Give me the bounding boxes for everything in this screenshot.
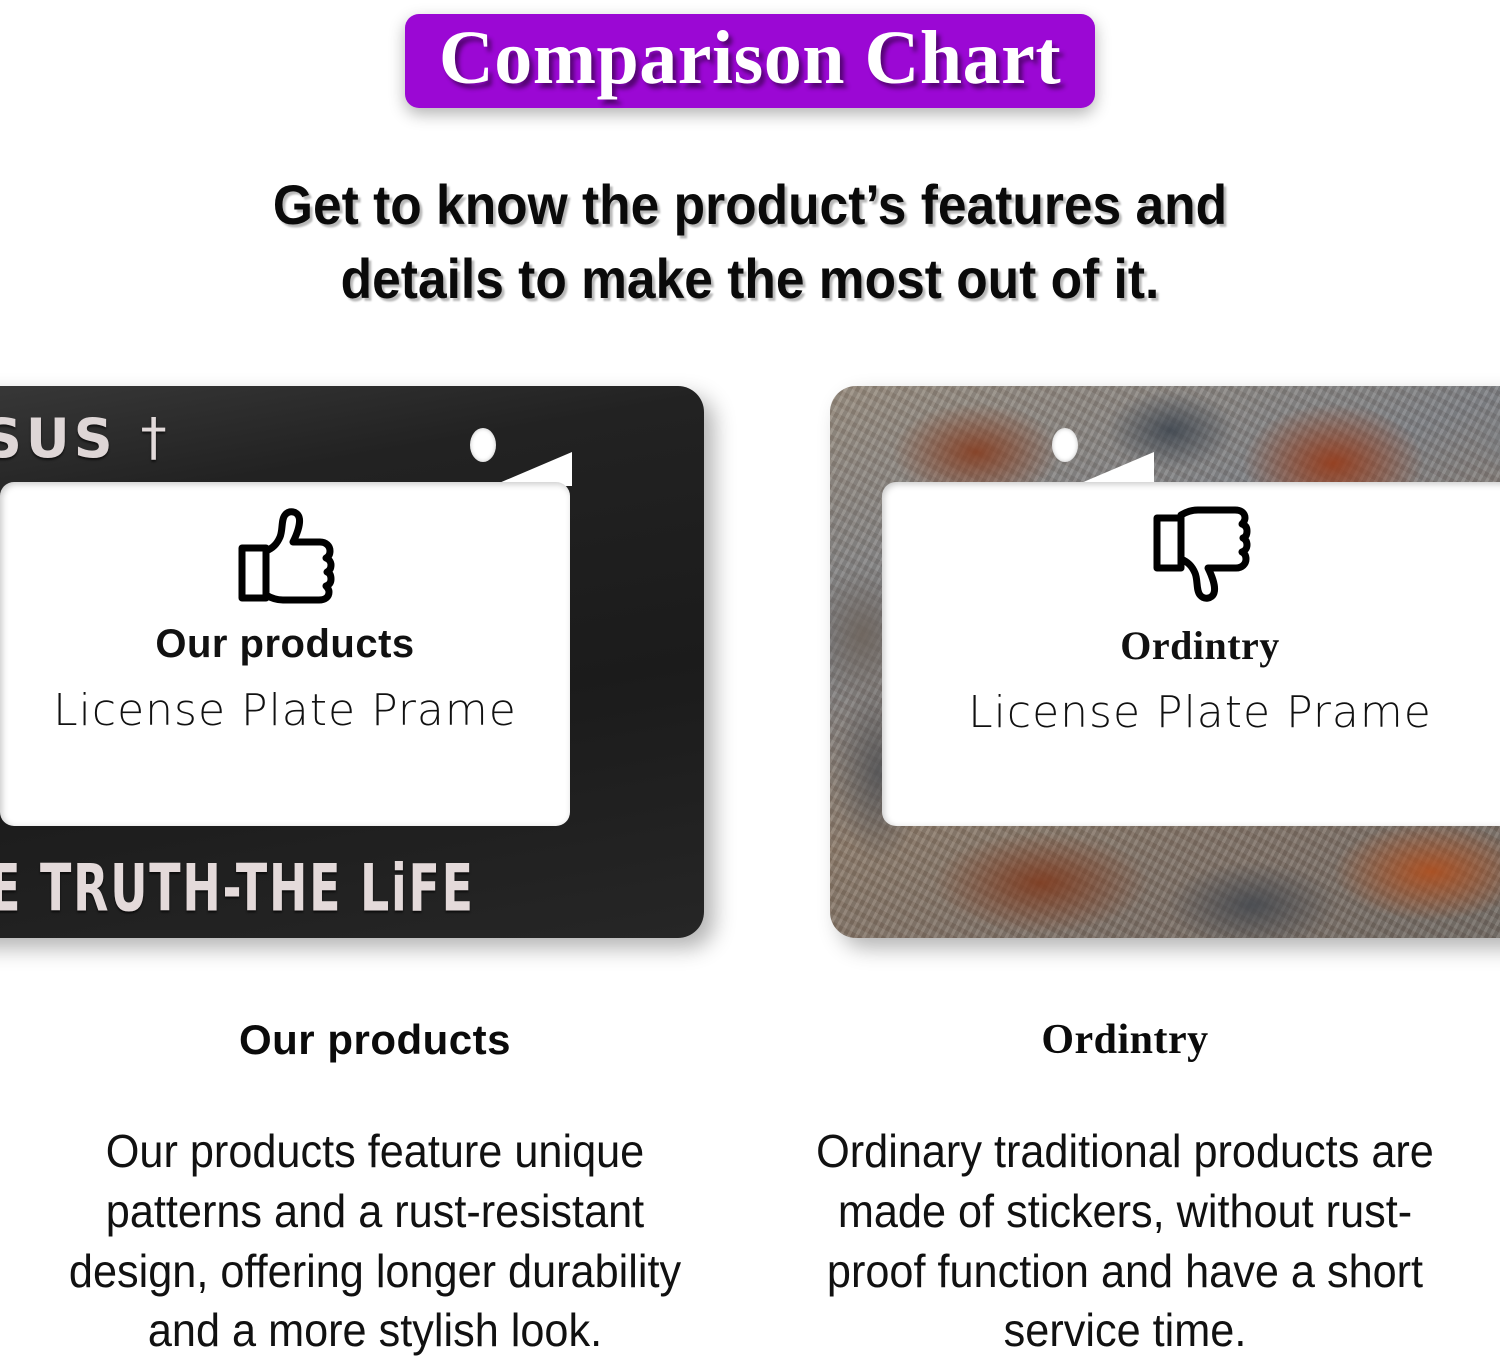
cross-icon: † [141, 408, 171, 468]
frame-top-engraving: JESUS † [0, 398, 704, 478]
title-banner-wrap: Comparison Chart [0, 14, 1500, 108]
ordinary-product-subheading: License Plate Prame [968, 687, 1432, 738]
frame-bottom-engraving: -THE TRUTH-THE LiFE [0, 850, 607, 926]
our-product-description-column: Our products Our products feature unique… [0, 1016, 750, 1361]
our-product-subheading: License Plate Prame [53, 685, 517, 736]
page-title: Comparison Chart [439, 20, 1061, 96]
ordinary-product-plate-window: Ordintry License Plate Prame [882, 482, 1500, 826]
ordinary-product-description-title: Ordintry [786, 1016, 1464, 1064]
thumbs-down-icon [1140, 504, 1260, 612]
descriptions-row: Our products Our products feature unique… [0, 1016, 1500, 1361]
our-product-plate-window: Our products License Plate Prame [0, 482, 570, 826]
ordinary-product-description-body: Ordinary traditional products are made o… [806, 1122, 1443, 1361]
our-product-heading: Our products [155, 622, 414, 667]
mounting-hole [470, 428, 496, 462]
ordinary-product-heading: Ordintry [1120, 622, 1280, 669]
subtitle-line-1: Get to know the product’s features and [60, 168, 1440, 242]
comparison-chart-banner: Comparison Chart [405, 14, 1095, 108]
frame-corner-notch [1074, 452, 1154, 486]
mounting-hole [1052, 428, 1078, 462]
our-product-description-body: Our products feature unique patterns and… [56, 1122, 693, 1361]
subtitle-line-2: details to make the most out of it. [60, 242, 1440, 316]
ordinary-product-plate-frame: Ordintry License Plate Prame [830, 386, 1500, 938]
comparison-frames-row: JESUS † Our products License Plate Prame… [0, 382, 1500, 952]
thumbs-up-icon [225, 504, 345, 612]
frame-top-text: JESUS [0, 407, 117, 470]
ordinary-product-description-column: Ordintry Ordinary traditional products a… [750, 1016, 1500, 1361]
page-subtitle: Get to know the product’s features and d… [60, 168, 1440, 316]
our-product-plate-frame: JESUS † Our products License Plate Prame… [0, 386, 704, 938]
our-product-description-title: Our products [36, 1016, 714, 1064]
frame-corner-notch [492, 452, 572, 486]
